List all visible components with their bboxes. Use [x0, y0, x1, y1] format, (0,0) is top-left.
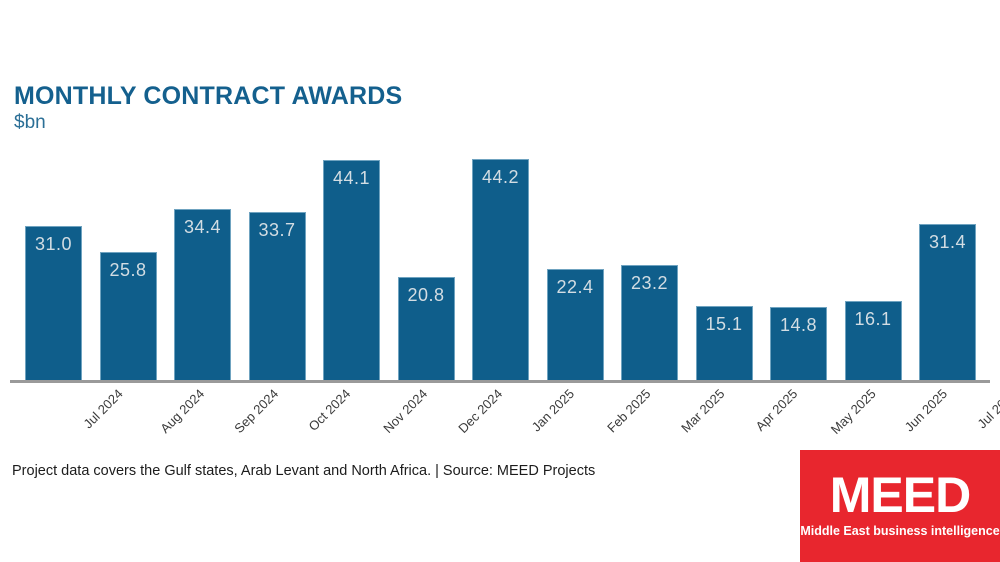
bar-column: 44.1	[323, 160, 380, 382]
bar-value-label: 31.0	[25, 234, 82, 255]
bar-value-label: 16.1	[845, 309, 902, 330]
bar-column: 31.4	[919, 224, 976, 382]
x-axis-tick-label: Jul 2024	[80, 386, 125, 431]
bar-chart-plot-area: 31.025.834.433.744.120.844.222.423.215.1…	[0, 130, 1000, 382]
bar-column: 14.8	[770, 307, 827, 382]
x-axis-tick-label: Nov 2024	[380, 386, 430, 436]
bar-column: 34.4	[174, 209, 231, 382]
x-axis-tick-label: Dec 2024	[455, 386, 505, 436]
x-axis-tick-label: May 2025	[828, 386, 879, 437]
source-footnote: Project data covers the Gulf states, Ara…	[12, 463, 595, 479]
bar-column: 20.8	[398, 277, 455, 382]
x-axis-baseline	[10, 380, 990, 383]
page-title: MONTHLY CONTRACT AWARDS	[14, 82, 402, 111]
bar-column: 31.0	[25, 226, 82, 382]
x-axis-tick-label: Mar 2025	[678, 386, 727, 435]
chart-page: MONTHLY CONTRACT AWARDS $bn 31.025.834.4…	[0, 0, 1000, 562]
bar-value-label: 31.4	[919, 232, 976, 253]
x-axis-tick-label: Jun 2025	[901, 386, 949, 434]
x-axis-tick-label: Jul 2025	[974, 386, 1000, 431]
bar-value-label: 15.1	[696, 314, 753, 335]
bar	[472, 159, 529, 382]
bar-value-label: 44.2	[472, 167, 529, 188]
bar-column: 44.2	[472, 159, 529, 382]
bar-column: 22.4	[547, 269, 604, 382]
x-axis-tick-label: Aug 2024	[157, 386, 207, 436]
bar-column: 33.7	[249, 212, 306, 382]
bar-column: 16.1	[845, 301, 902, 382]
bar-column: 15.1	[696, 306, 753, 382]
bar-value-label: 34.4	[174, 217, 231, 238]
x-axis-tick-label: Apr 2025	[752, 386, 800, 434]
meed-tagline: Middle East business intelligence	[800, 524, 1000, 538]
meed-wordmark: MEED	[800, 470, 1000, 520]
bar-column: 23.2	[621, 265, 678, 382]
bar-value-label: 25.8	[100, 260, 157, 281]
bar-value-label: 14.8	[770, 315, 827, 336]
x-axis-tick-label: Feb 2025	[604, 386, 653, 435]
meed-logo: MEED Middle East business intelligence	[800, 450, 1000, 562]
bar-value-label: 44.1	[323, 168, 380, 189]
bar-value-label: 20.8	[398, 285, 455, 306]
x-axis-tick-label: Oct 2024	[305, 386, 353, 434]
bar-value-label: 22.4	[547, 277, 604, 298]
bar-column: 25.8	[100, 252, 157, 382]
x-axis-tick-label: Sep 2024	[231, 386, 281, 436]
x-axis-tick-label: Jan 2025	[529, 386, 577, 434]
bar	[323, 160, 380, 382]
bar-value-label: 33.7	[249, 220, 306, 241]
bar-value-label: 23.2	[621, 273, 678, 294]
